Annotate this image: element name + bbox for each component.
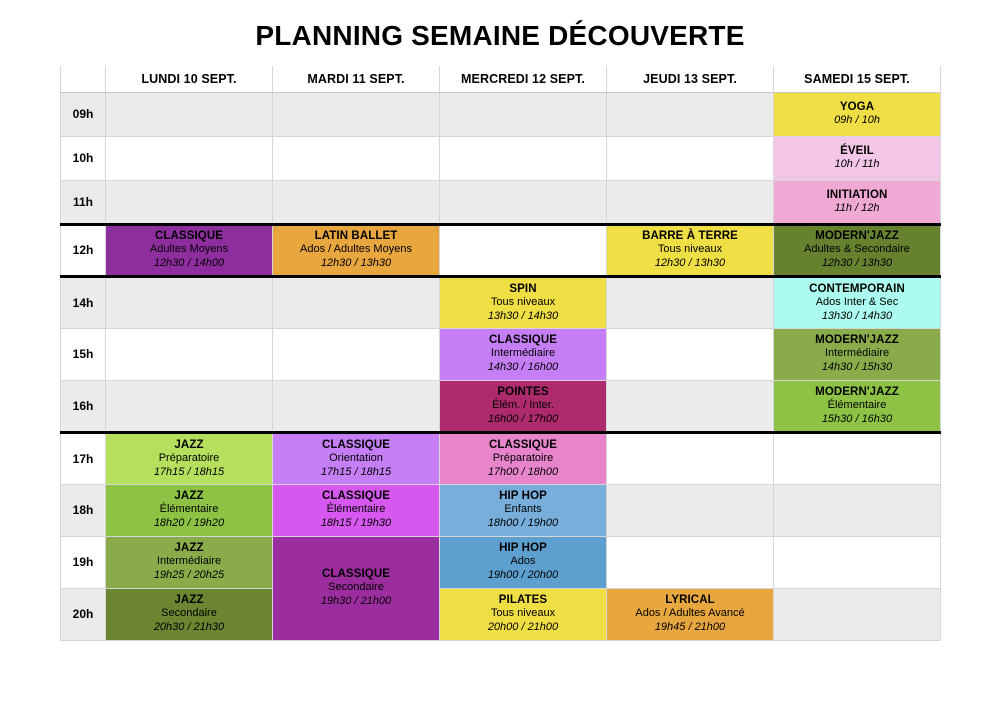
event-samedi-contemporain[interactable]: CONTEMPORAIN Ados Inter & Sec 13h30 / 14… — [774, 276, 941, 328]
cell-jeudi-16h[interactable] — [607, 380, 774, 432]
header-day-lundi: LUNDI 10 SEPT. — [106, 66, 273, 92]
header-day-mercredi: MERCREDI 12 SEPT. — [440, 66, 607, 92]
event-mardi-classique-orientation[interactable]: CLASSIQUE Orientation 17h15 / 18h15 — [273, 432, 440, 484]
event-mercredi-classique-intermediaire[interactable]: CLASSIQUE Intermédiaire 14h30 / 16h00 — [440, 328, 607, 380]
cell-lundi-10h[interactable] — [106, 136, 273, 180]
event-lundi-classique-adultes[interactable]: CLASSIQUE Adultes Moyens 12h30 / 14h00 — [106, 224, 273, 276]
event-time: 19h45 / 21h00 — [610, 621, 770, 635]
planning-grid-wrapper: LUNDI 10 SEPT. MARDI 11 SEPT. MERCREDI 1… — [0, 66, 1000, 641]
time-label-18h: 18h — [61, 484, 106, 536]
event-time: 11h / 12h — [777, 202, 937, 216]
cell-mardi-15h[interactable] — [273, 328, 440, 380]
event-title: CONTEMPORAIN — [777, 282, 937, 296]
event-time: 09h / 10h — [777, 114, 937, 128]
event-time: 14h30 / 16h00 — [443, 361, 603, 375]
event-time: 17h00 / 18h00 — [443, 466, 603, 480]
event-title: HIP HOP — [443, 489, 603, 503]
cell-lundi-09h[interactable] — [106, 92, 273, 136]
event-mercredi-hiphop-enfants[interactable]: HIP HOP Enfants 18h00 / 19h00 — [440, 484, 607, 536]
event-level: Ados / Adultes Moyens — [276, 243, 436, 257]
time-label-12h: 12h — [61, 224, 106, 276]
event-level: Adultes & Secondaire — [777, 243, 937, 257]
header-day-jeudi: JEUDI 13 SEPT. — [607, 66, 774, 92]
table-body: 09h YOGA 09h / 10h 10h ÉVEIL 10 — [61, 92, 941, 640]
table-row-14h: 14h SPIN Tous niveaux 13h30 / 14h30 CONT… — [61, 276, 941, 328]
time-label-19h: 19h — [61, 536, 106, 588]
time-label-09h: 09h — [61, 92, 106, 136]
event-level: Ados — [443, 555, 603, 569]
event-time: 17h15 / 18h15 — [109, 466, 269, 480]
event-samedi-eveil[interactable]: ÉVEIL 10h / 11h — [774, 136, 941, 180]
header-day-mardi: MARDI 11 SEPT. — [273, 66, 440, 92]
cell-samedi-19h[interactable] — [774, 536, 941, 588]
event-title: POINTES — [443, 385, 603, 399]
event-time: 19h25 / 20h25 — [109, 569, 269, 583]
cell-mercredi-11h[interactable] — [440, 180, 607, 224]
event-title: LATIN BALLET — [276, 229, 436, 243]
event-time: 12h30 / 13h30 — [777, 257, 937, 271]
event-level: Orientation — [276, 452, 436, 466]
event-level: Élémentaire — [276, 503, 436, 517]
event-lundi-jazz-preparatoire[interactable]: JAZZ Préparatoire 17h15 / 18h15 — [106, 432, 273, 484]
event-samedi-modernjazz-intermediaire[interactable]: MODERN'JAZZ Intermédiaire 14h30 / 15h30 — [774, 328, 941, 380]
event-level: Élémentaire — [777, 399, 937, 413]
event-time: 18h15 / 19h30 — [276, 517, 436, 531]
event-level: Secondaire — [276, 581, 436, 595]
event-time: 14h30 / 15h30 — [777, 361, 937, 375]
cell-jeudi-17h[interactable] — [607, 432, 774, 484]
event-lundi-jazz-elementaire[interactable]: JAZZ Élémentaire 18h20 / 19h20 — [106, 484, 273, 536]
event-title: CLASSIQUE — [443, 438, 603, 452]
event-title: CLASSIQUE — [443, 333, 603, 347]
cell-mercredi-09h[interactable] — [440, 92, 607, 136]
table-row-12h: 12h CLASSIQUE Adultes Moyens 12h30 / 14h… — [61, 224, 941, 276]
table-row-18h: 18h JAZZ Élémentaire 18h20 / 19h20 CLASS… — [61, 484, 941, 536]
table-row-19h: 19h JAZZ Intermédiaire 19h25 / 20h25 CLA… — [61, 536, 941, 588]
event-time: 17h15 / 18h15 — [276, 466, 436, 480]
table-row-17h: 17h JAZZ Préparatoire 17h15 / 18h15 CLAS… — [61, 432, 941, 484]
event-level: Tous niveaux — [443, 607, 603, 621]
event-samedi-modernjazz-adultes[interactable]: MODERN'JAZZ Adultes & Secondaire 12h30 /… — [774, 224, 941, 276]
event-lundi-jazz-secondaire[interactable]: JAZZ Secondaire 20h30 / 21h30 — [106, 588, 273, 640]
event-level: Intermédiaire — [443, 347, 603, 361]
event-title: BARRE À TERRE — [610, 229, 770, 243]
header-day-samedi: SAMEDI 15 SEPT. — [774, 66, 941, 92]
event-mardi-latin-ballet[interactable]: LATIN BALLET Ados / Adultes Moyens 12h30… — [273, 224, 440, 276]
event-title: MODERN'JAZZ — [777, 333, 937, 347]
event-time: 12h30 / 13h30 — [276, 257, 436, 271]
event-title: CLASSIQUE — [276, 489, 436, 503]
event-title: JAZZ — [109, 438, 269, 452]
event-mardi-classique-elementaire[interactable]: CLASSIQUE Élémentaire 18h15 / 19h30 — [273, 484, 440, 536]
event-title: JAZZ — [109, 541, 269, 555]
table-row-15h: 15h CLASSIQUE Intermédiaire 14h30 / 16h0… — [61, 328, 941, 380]
event-time: 18h20 / 19h20 — [109, 517, 269, 531]
event-time: 18h00 / 19h00 — [443, 517, 603, 531]
cell-mardi-16h[interactable] — [273, 380, 440, 432]
time-label-16h: 16h — [61, 380, 106, 432]
event-samedi-modernjazz-elementaire[interactable]: MODERN'JAZZ Élémentaire 15h30 / 16h30 — [774, 380, 941, 432]
cell-jeudi-19h[interactable] — [607, 536, 774, 588]
cell-mardi-14h[interactable] — [273, 276, 440, 328]
event-lundi-jazz-intermediaire[interactable]: JAZZ Intermédiaire 19h25 / 20h25 — [106, 536, 273, 588]
event-title: MODERN'JAZZ — [777, 229, 937, 243]
cell-mercredi-10h[interactable] — [440, 136, 607, 180]
event-level: Enfants — [443, 503, 603, 517]
cell-lundi-15h[interactable] — [106, 328, 273, 380]
time-label-14h: 14h — [61, 276, 106, 328]
event-title: PILATES — [443, 593, 603, 607]
event-time: 12h30 / 13h30 — [610, 257, 770, 271]
cell-jeudi-15h[interactable] — [607, 328, 774, 380]
cell-samedi-18h[interactable] — [774, 484, 941, 536]
event-title: LYRICAL — [610, 593, 770, 607]
event-mercredi-pilates[interactable]: PILATES Tous niveaux 20h00 / 21h00 — [440, 588, 607, 640]
event-title: MODERN'JAZZ — [777, 385, 937, 399]
table-row-16h: 16h POINTES Élém. / Inter. 16h00 / 17h00… — [61, 380, 941, 432]
event-mercredi-classique-preparatoire[interactable]: CLASSIQUE Préparatoire 17h00 / 18h00 — [440, 432, 607, 484]
event-level: Adultes Moyens — [109, 243, 269, 257]
event-title: ÉVEIL — [777, 144, 937, 158]
event-time: 19h30 / 21h00 — [276, 595, 436, 609]
table-row-20h: 20h JAZZ Secondaire 20h30 / 21h30 PILATE… — [61, 588, 941, 640]
cell-mardi-10h[interactable] — [273, 136, 440, 180]
cell-jeudi-14h[interactable] — [607, 276, 774, 328]
event-level: Élémentaire — [109, 503, 269, 517]
event-level: Ados Inter & Sec — [777, 296, 937, 310]
cell-jeudi-18h[interactable] — [607, 484, 774, 536]
event-mercredi-hiphop-ados[interactable]: HIP HOP Ados 19h00 / 20h00 — [440, 536, 607, 588]
event-title: CLASSIQUE — [109, 229, 269, 243]
event-time: 20h00 / 21h00 — [443, 621, 603, 635]
planning-page: PLANNING SEMAINE DÉCOUVERTE LUNDI 10 SEP… — [0, 0, 1000, 706]
cell-mardi-11h[interactable] — [273, 180, 440, 224]
event-time: 12h30 / 14h00 — [109, 257, 269, 271]
event-time: 20h30 / 21h30 — [109, 621, 269, 635]
cell-jeudi-09h[interactable] — [607, 92, 774, 136]
table-row-09h: 09h YOGA 09h / 10h — [61, 92, 941, 136]
cell-samedi-20h[interactable] — [774, 588, 941, 640]
event-level: Intermédiaire — [109, 555, 269, 569]
event-time: 19h00 / 20h00 — [443, 569, 603, 583]
weekly-schedule-table: LUNDI 10 SEPT. MARDI 11 SEPT. MERCREDI 1… — [60, 66, 941, 641]
header-row: LUNDI 10 SEPT. MARDI 11 SEPT. MERCREDI 1… — [61, 66, 941, 92]
time-label-11h: 11h — [61, 180, 106, 224]
table-header: LUNDI 10 SEPT. MARDI 11 SEPT. MERCREDI 1… — [61, 66, 941, 92]
event-level: Préparatoire — [109, 452, 269, 466]
event-title: YOGA — [777, 100, 937, 114]
event-title: INITIATION — [777, 188, 937, 202]
event-level: Intermédiaire — [777, 347, 937, 361]
time-label-10h: 10h — [61, 136, 106, 180]
event-title: CLASSIQUE — [276, 438, 436, 452]
event-samedi-yoga[interactable]: YOGA 09h / 10h — [774, 92, 941, 136]
cell-mercredi-12h[interactable] — [440, 224, 607, 276]
event-level: Secondaire — [109, 607, 269, 621]
event-title: JAZZ — [109, 593, 269, 607]
event-title: HIP HOP — [443, 541, 603, 555]
cell-samedi-17h[interactable] — [774, 432, 941, 484]
cell-jeudi-11h[interactable] — [607, 180, 774, 224]
event-mercredi-spin[interactable]: SPIN Tous niveaux 13h30 / 14h30 — [440, 276, 607, 328]
event-time: 13h30 / 14h30 — [443, 310, 603, 324]
event-title: JAZZ — [109, 489, 269, 503]
event-title: CLASSIQUE — [276, 567, 436, 581]
event-jeudi-lyrical[interactable]: LYRICAL Ados / Adultes Avancé 19h45 / 21… — [607, 588, 774, 640]
event-mardi-classique-secondaire[interactable]: CLASSIQUE Secondaire 19h30 / 21h00 — [273, 536, 440, 640]
cell-mardi-09h[interactable] — [273, 92, 440, 136]
page-title: PLANNING SEMAINE DÉCOUVERTE — [0, 0, 1000, 66]
cell-lundi-11h[interactable] — [106, 180, 273, 224]
time-label-20h: 20h — [61, 588, 106, 640]
time-label-15h: 15h — [61, 328, 106, 380]
header-time-column — [61, 66, 106, 92]
cell-jeudi-10h[interactable] — [607, 136, 774, 180]
event-time: 10h / 11h — [777, 158, 937, 172]
event-samedi-initiation[interactable]: INITIATION 11h / 12h — [774, 180, 941, 224]
cell-lundi-14h[interactable] — [106, 276, 273, 328]
event-level: Préparatoire — [443, 452, 603, 466]
event-title: SPIN — [443, 282, 603, 296]
event-level: Élém. / Inter. — [443, 399, 603, 413]
event-level: Tous niveaux — [610, 243, 770, 257]
table-row-10h: 10h ÉVEIL 10h / 11h — [61, 136, 941, 180]
event-time: 15h30 / 16h30 — [777, 413, 937, 427]
time-label-17h: 17h — [61, 432, 106, 484]
event-time: 13h30 / 14h30 — [777, 310, 937, 324]
cell-lundi-16h[interactable] — [106, 380, 273, 432]
event-level: Tous niveaux — [443, 296, 603, 310]
table-row-11h: 11h INITIATION 11h / 12h — [61, 180, 941, 224]
event-time: 16h00 / 17h00 — [443, 413, 603, 427]
event-level: Ados / Adultes Avancé — [610, 607, 770, 621]
event-jeudi-barre-a-terre[interactable]: BARRE À TERRE Tous niveaux 12h30 / 13h30 — [607, 224, 774, 276]
event-mercredi-pointes[interactable]: POINTES Élém. / Inter. 16h00 / 17h00 — [440, 380, 607, 432]
